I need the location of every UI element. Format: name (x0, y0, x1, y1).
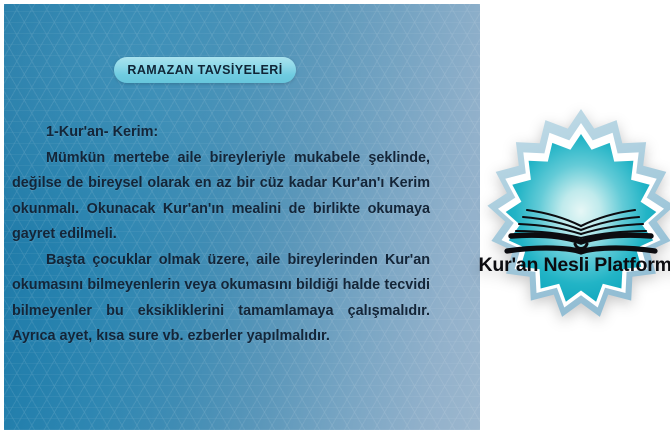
body-paragraph-1: Mümkün mertebe aile bireyleriyle mukabel… (12, 146, 430, 248)
body-paragraph-2: Başta çocuklar olmak üzere, aile bireyle… (12, 248, 430, 350)
title-banner-label: RAMAZAN TAVSİYELERİ (127, 63, 282, 77)
body-text-block: 1-Kur'an- Kerim: Mümkün mertebe aile bir… (12, 120, 430, 350)
title-banner: RAMAZAN TAVSİYELERİ (114, 57, 296, 83)
body-heading: 1-Kur'an- Kerim: (12, 120, 430, 146)
logo-wordmark: Kur'an Nesli Platformu (478, 254, 670, 276)
platform-logo-badge: Kur'an Nesli Platformu (455, 105, 670, 357)
poster-canvas: RAMAZAN TAVSİYELERİ 1-Kur'an- Kerim: Müm… (0, 0, 670, 446)
